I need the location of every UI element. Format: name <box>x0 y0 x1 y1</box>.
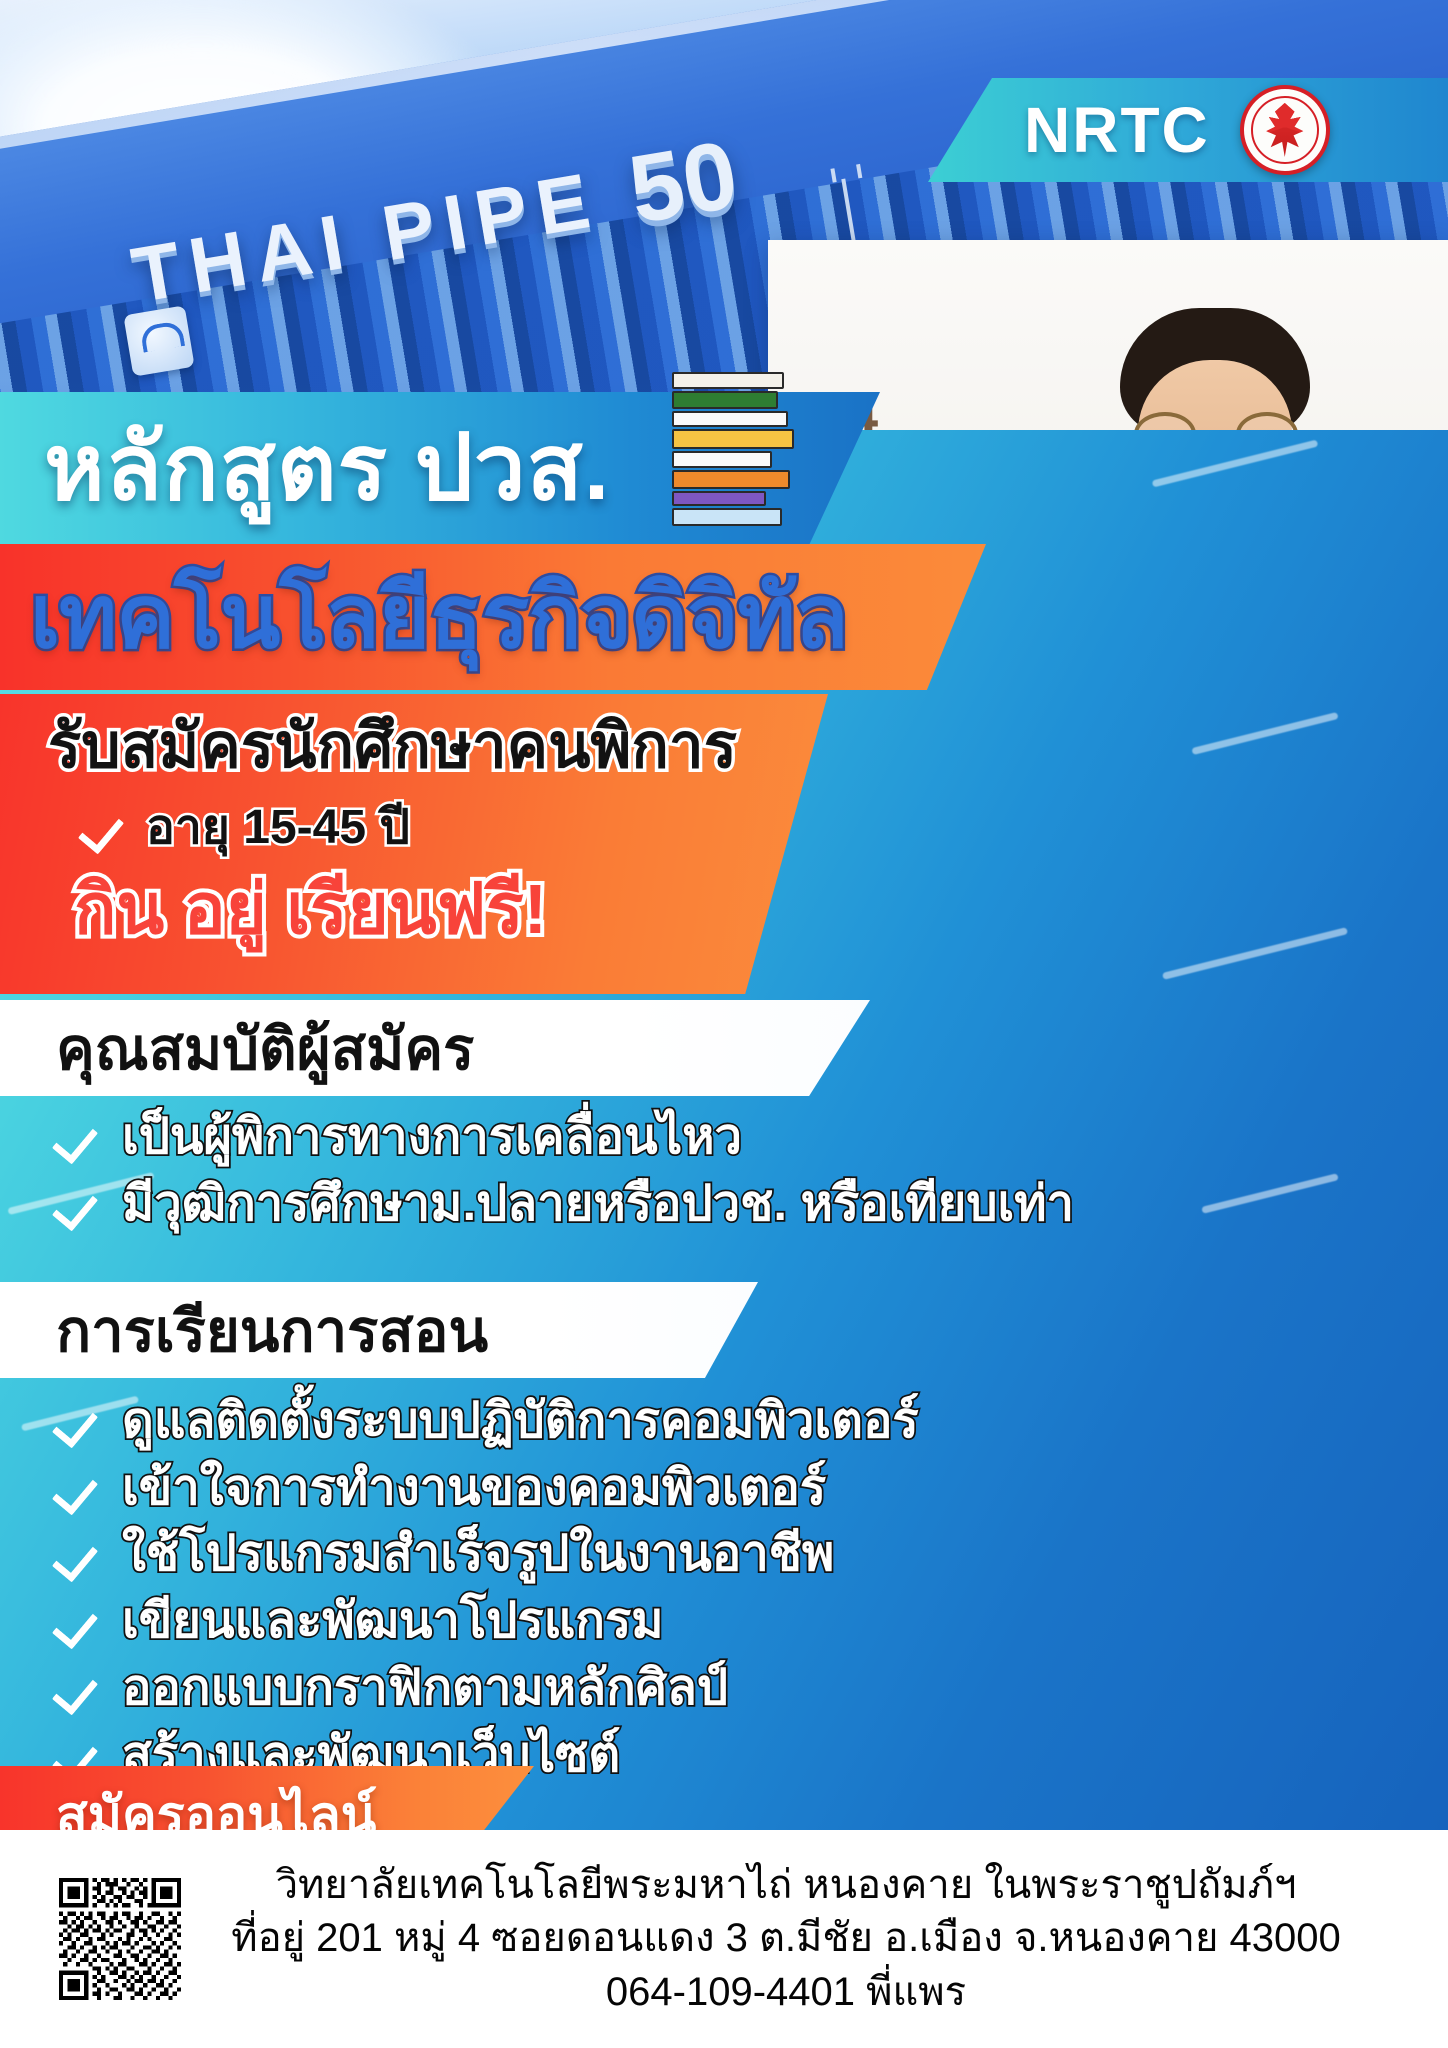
list-item: มีวุฒิการศึกษาม.ปลายหรือปวช. หรือเทียบเท… <box>56 1173 1056 1236</box>
qualifications-heading: คุณสมบัติผู้สมัคร <box>56 1002 474 1095</box>
list-item: ใช้โปรแกรมสำเร็จรูปในงานอาชีพ <box>56 1523 1056 1586</box>
check-icon <box>82 806 124 848</box>
list-item-label: ดูแลติดตั้งระบบปฏิบัติการคอมพิวเตอร์ <box>122 1390 919 1453</box>
list-item: ออกแบบกราฟิกตามหลักศิลป์ <box>56 1657 1056 1720</box>
check-icon <box>56 1400 98 1442</box>
list-item: เป็นผู้พิการทางการเคลื่อนไหว <box>56 1106 1056 1169</box>
building-logo-icon <box>123 305 194 376</box>
check-icon <box>56 1183 98 1225</box>
check-icon <box>56 1116 98 1158</box>
qualifications-list: เป็นผู้พิการทางการเคลื่อนไหว มีวุฒิการศึ… <box>56 1106 1056 1239</box>
program-name-label: เทคโนโลยีธุรกิจดิจิทัล <box>30 573 848 661</box>
building-sign-number: 50 <box>622 120 745 246</box>
list-item: เขียนและพัฒนาโปรแกรม <box>56 1590 1056 1653</box>
free-label: กิน อยู่ เรียนฟรี! <box>74 871 547 948</box>
list-item-label: เข้าใจการทำงานของคอมพิวเตอร์ <box>122 1457 826 1520</box>
recruit-headline: รับสมัครนักศึกษาคนพิการ <box>48 712 737 781</box>
list-item: ดูแลติดตั้งระบบปฏิบัติการคอมพิวเตอร์ <box>56 1390 1056 1453</box>
age-row: อายุ 15-45 ปี <box>82 789 410 865</box>
address-line: ที่อยู่ 201 หมู่ 4 ซอยดอนแดง 3 ต.มีชัย อ… <box>184 1912 1388 1966</box>
phone-line: 064-109-4401 พี่แพร <box>184 1966 1388 2020</box>
books-stack-icon <box>672 372 802 532</box>
list-item-label: ออกแบบกราฟิกตามหลักศิลป์ <box>122 1657 728 1720</box>
list-item-label: เป็นผู้พิการทางการเคลื่อนไหว <box>122 1106 742 1169</box>
program-name-band: เทคโนโลยีธุรกิจดิจิทัล <box>0 544 986 690</box>
footer: วิทยาลัยเทคโนโลยีพระมหาไถ่ หนองคาย ในพระ… <box>0 1830 1448 2048</box>
recruit-block: รับสมัครนักศึกษาคนพิการ อายุ 15-45 ปี กิ… <box>0 694 828 994</box>
list-item-label: มีวุฒิการศึกษาม.ปลายหรือปวช. หรือเทียบเท… <box>122 1173 1074 1236</box>
list-item-label: เขียนและพัฒนาโปรแกรม <box>122 1590 664 1653</box>
check-icon <box>56 1534 98 1576</box>
qr-code[interactable] <box>56 1875 184 2003</box>
qualifications-heading-band: คุณสมบัติผู้สมัคร <box>0 1000 870 1096</box>
nrtc-header-tab: NRTC <box>928 78 1448 182</box>
list-item-label: ใช้โปรแกรมสำเร็จรูปในงานอาชีพ <box>122 1523 834 1586</box>
curriculum-heading: การเรียนการสอน <box>56 1284 488 1377</box>
check-icon <box>56 1601 98 1643</box>
institution-name: วิทยาลัยเทคโนโลยีพระมหาไถ่ หนองคาย ในพระ… <box>184 1859 1388 1913</box>
org-abbr-label: NRTC <box>1024 93 1210 167</box>
check-icon <box>56 1467 98 1509</box>
seal-emblem-icon <box>1263 103 1307 157</box>
check-icon <box>56 1667 98 1709</box>
college-seal-icon <box>1240 85 1330 175</box>
curriculum-list: ดูแลติดตั้งระบบปฏิบัติการคอมพิวเตอร์ เข้… <box>56 1390 1056 1790</box>
curriculum-heading-band: การเรียนการสอน <box>0 1282 758 1378</box>
age-label: อายุ 15-45 ปี <box>146 789 410 865</box>
footer-text-block: วิทยาลัยเทคโนโลยีพระมหาไถ่ หนองคาย ในพระ… <box>184 1859 1448 2020</box>
course-level-label: หลักสูตร ปวส. <box>44 422 610 514</box>
poster-root: THAI PIPE 50 NRTC 024 bal Cha for Youth … <box>0 0 1448 2048</box>
list-item: เข้าใจการทำงานของคอมพิวเตอร์ <box>56 1457 1056 1520</box>
